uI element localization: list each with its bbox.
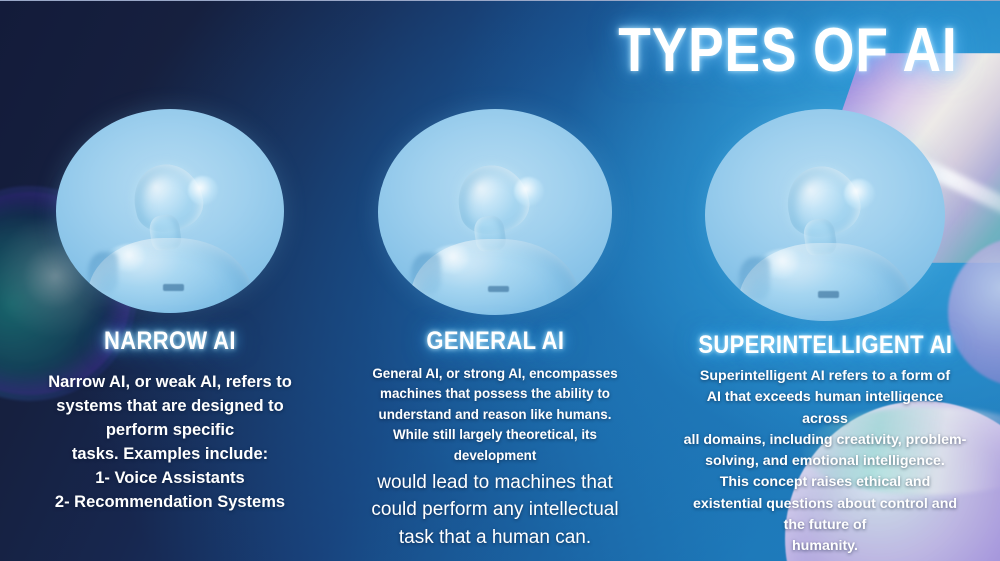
- text-line: General AI, or strong AI, encompasses: [361, 364, 629, 384]
- text-line: could perform any intellectual: [350, 496, 640, 524]
- text-line: development: [361, 446, 629, 466]
- infographic-canvas: TYPES OF AI NARROW AI Narrow AI, or weak…: [0, 0, 1000, 561]
- list-item: 2- Recommendation Systems: [20, 490, 320, 514]
- text-line: machines that possess the ability to: [361, 384, 629, 404]
- text-line: the future of: [670, 515, 980, 536]
- text-line: task that a human can.: [350, 524, 640, 552]
- text-line: Narrow AI, or weak AI, refers to: [20, 370, 320, 394]
- text-line: understand and reason like humans.: [361, 405, 629, 425]
- text-line: Superintelligent AI refers to a form of: [670, 366, 980, 387]
- text-line: systems that are designed to: [20, 394, 320, 418]
- text-line: This concept raises ethical and: [670, 472, 980, 493]
- list-item: 1- Voice Assistants: [20, 466, 320, 490]
- column-narrow-ai: NARROW AI Narrow AI, or weak AI, refers …: [0, 109, 340, 558]
- column-superintelligent-ai: SUPERINTELLIGENT AI Superintelligent AI …: [650, 109, 1000, 558]
- general-ai-image: [378, 109, 612, 315]
- text-line: would lead to machines that: [350, 469, 640, 497]
- text-line: tasks. Examples include:: [20, 442, 320, 466]
- text-line: all domains, including creativity, probl…: [670, 430, 980, 451]
- narrow-ai-image: [56, 109, 284, 313]
- text-line: existential questions about control and: [670, 494, 980, 515]
- narrow-ai-heading: NARROW AI: [104, 327, 236, 356]
- general-ai-paragraph-large: would lead to machines that could perfor…: [350, 469, 640, 552]
- glass-humanoid-figure-icon: [378, 109, 612, 315]
- page-title: TYPES OF AI: [619, 15, 958, 86]
- superintelligent-ai-heading: SUPERINTELLIGENT AI: [698, 331, 952, 360]
- general-ai-heading: GENERAL AI: [426, 327, 564, 356]
- text-line: perform specific: [20, 418, 320, 442]
- text-line: solving, and emotional intelligence.: [670, 451, 980, 472]
- superintelligent-ai-image: [705, 109, 945, 321]
- glass-humanoid-figure-icon: [56, 109, 284, 313]
- column-general-ai: GENERAL AI General AI, or strong AI, enc…: [340, 109, 650, 558]
- columns-container: NARROW AI Narrow AI, or weak AI, refers …: [0, 109, 1000, 558]
- text-line: AI that exceeds human intelligence: [670, 387, 980, 408]
- superintelligent-ai-paragraph: Superintelligent AI refers to a form of …: [670, 366, 980, 558]
- general-ai-paragraph-small: General AI, or strong AI, encompasses ma…: [361, 364, 629, 466]
- text-line: across: [670, 409, 980, 430]
- narrow-ai-paragraph: Narrow AI, or weak AI, refers to systems…: [20, 370, 320, 514]
- glass-humanoid-figure-icon: [705, 109, 945, 321]
- text-line: While still largely theoretical, its: [361, 425, 629, 445]
- text-line: humanity.: [670, 536, 980, 557]
